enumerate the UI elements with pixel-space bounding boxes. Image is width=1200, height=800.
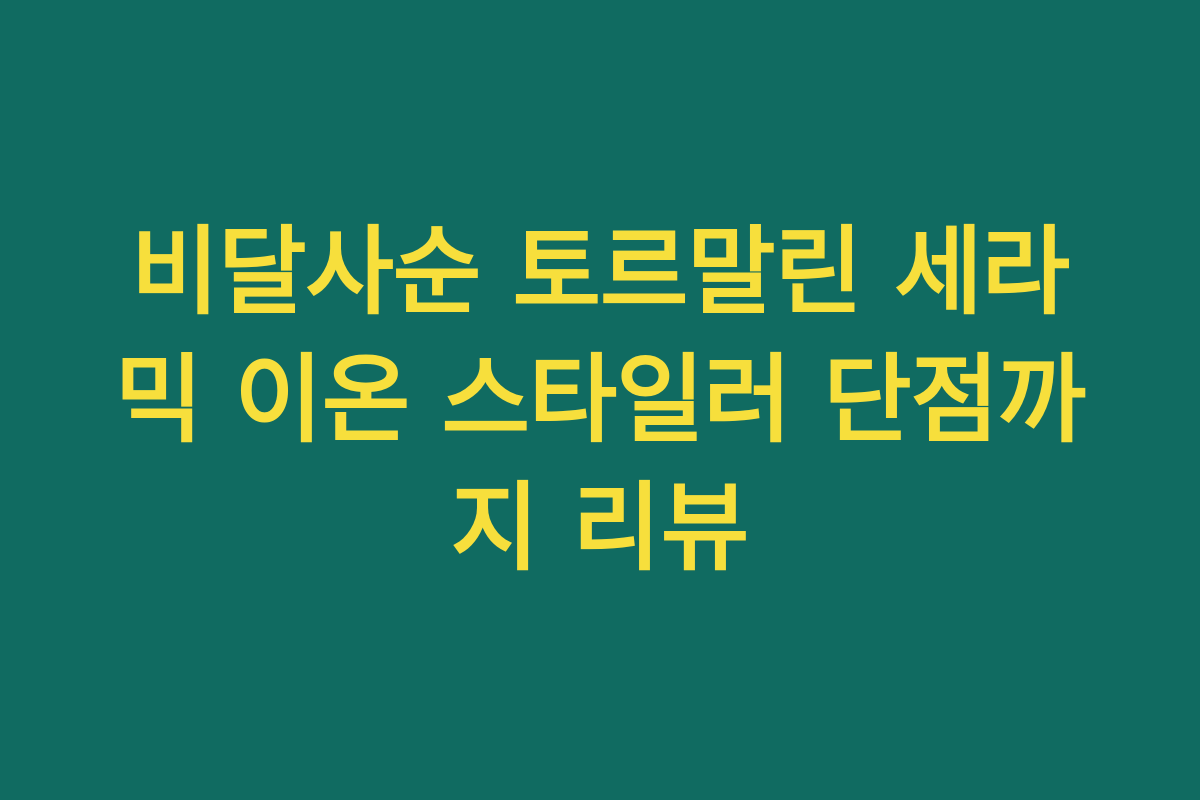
title-line-2: 믹 이온 스타일러 단점까 xyxy=(115,336,1085,464)
thumbnail-canvas: 비달사순 토르말린 세라 믹 이온 스타일러 단점까 지 리뷰 xyxy=(0,0,1200,800)
page-title: 비달사순 토르말린 세라 믹 이온 스타일러 단점까 지 리뷰 xyxy=(70,208,1130,592)
title-line-3: 지 리뷰 xyxy=(451,464,749,592)
title-line-1: 비달사순 토르말린 세라 xyxy=(131,208,1069,336)
